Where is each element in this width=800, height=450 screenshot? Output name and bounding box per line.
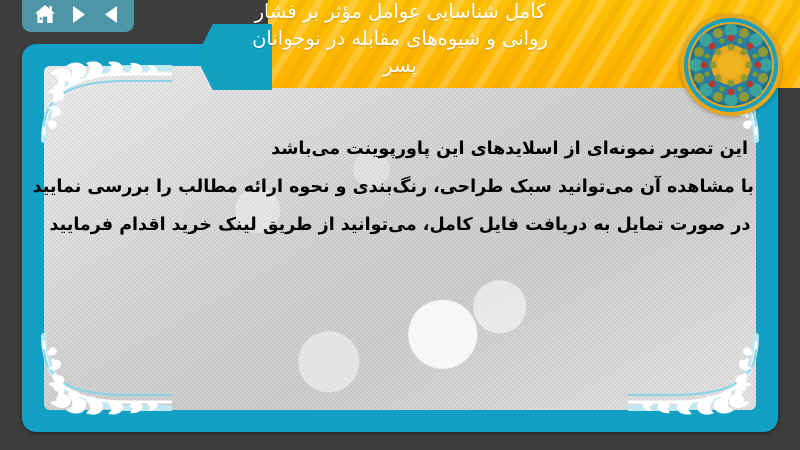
title-line-3: پسر	[168, 52, 632, 79]
body-line-3: در صورت تمایل به دریافت فایل کامل، می‌تو…	[46, 206, 754, 244]
home-button[interactable]	[32, 1, 58, 27]
title-line-1: کامل شناسایی عوامل مؤثر بر فشار	[168, 0, 632, 25]
slide-body-text: این تصویر نمونه‌ای از اسلایدهای این پاور…	[46, 130, 754, 244]
previous-button[interactable]	[98, 1, 124, 27]
body-line-2: با مشاهده آن می‌توانید سبک طراحی، رنگ‌بن…	[46, 168, 754, 206]
next-button[interactable]	[65, 1, 91, 27]
title-line-2: روانی و شیوه‌های مقابله در نوجوانان	[168, 25, 632, 52]
home-icon	[34, 4, 56, 25]
presentation-slide: کامل شناسایی عوامل مؤثر بر فشار روانی و …	[0, 0, 800, 450]
body-line-1: این تصویر نمونه‌ای از اسلایدهای این پاور…	[46, 130, 754, 168]
previous-triangle-icon	[103, 5, 120, 24]
next-triangle-icon	[70, 5, 87, 24]
navigation-bar	[22, 0, 134, 32]
slide-title: کامل شناسایی عوامل مؤثر بر فشار روانی و …	[150, 0, 650, 79]
